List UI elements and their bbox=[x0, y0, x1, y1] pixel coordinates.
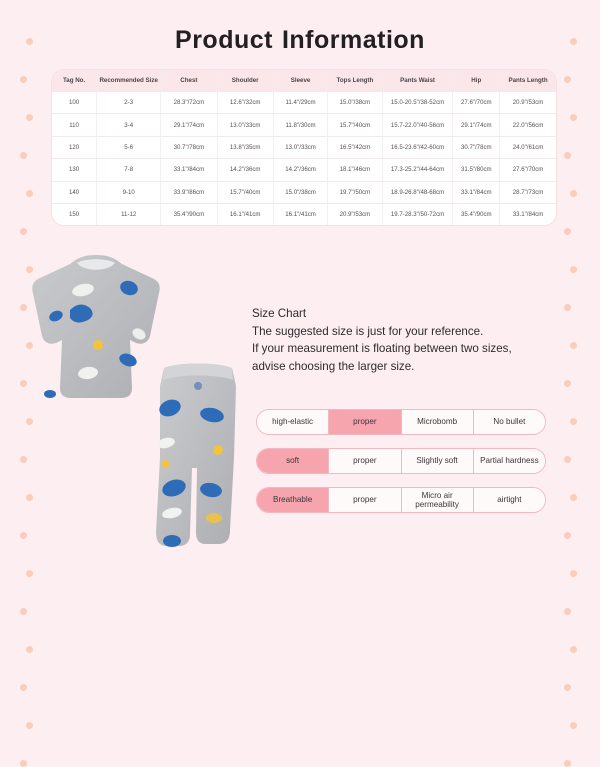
table-cell: 13.8"/35cm bbox=[217, 136, 273, 158]
table-cell: 15.0"/38cm bbox=[273, 181, 327, 203]
decorative-dot bbox=[20, 760, 27, 767]
size-table: Tag No.Recommended SizeChestShoulderSlee… bbox=[52, 70, 556, 225]
feature-option[interactable]: Microbomb bbox=[402, 410, 474, 434]
table-cell: 15.0"/38cm bbox=[328, 92, 382, 114]
feature-row-2: BreathableproperMicro air permeabilityai… bbox=[256, 487, 546, 513]
table-cell: 20.9"/53cm bbox=[500, 92, 556, 114]
table-cell: 30.7"/78cm bbox=[453, 136, 500, 158]
size-table-container: Tag No.Recommended SizeChestShoulderSlee… bbox=[52, 70, 556, 225]
table-cell: 29.1"/74cm bbox=[161, 114, 217, 136]
size-chart-heading: Size Chart bbox=[252, 305, 572, 323]
decorative-dot bbox=[564, 152, 571, 159]
table-cell: 27.6"/70cm bbox=[500, 159, 556, 181]
table-cell: 5-6 bbox=[97, 136, 161, 158]
feature-option[interactable]: No bullet bbox=[474, 410, 545, 434]
table-header-cell-5: Tops Length bbox=[328, 70, 382, 92]
feature-option[interactable]: proper bbox=[329, 488, 401, 512]
table-cell: 20.9"/53cm bbox=[328, 203, 382, 225]
table-cell: 11-12 bbox=[97, 203, 161, 225]
table-cell: 22.0"/56cm bbox=[500, 114, 556, 136]
feature-row-0: high-elasticproperMicrobombNo bullet bbox=[256, 409, 546, 435]
decorative-dots-right bbox=[562, 0, 592, 600]
table-header-cell-2: Chest bbox=[161, 70, 217, 92]
table-row: 1307-833.1"/84cm14.2"/36cm14.2"/36cm18.1… bbox=[52, 159, 556, 181]
feature-row-1: softproperSlightly softPartial hardness bbox=[256, 448, 546, 474]
decorative-dot bbox=[570, 266, 577, 273]
table-cell: 35.4"/90cm bbox=[453, 203, 500, 225]
table-header-cell-8: Pants Length bbox=[500, 70, 556, 92]
table-row: 1409-1033.9"/86cm15.7"/40cm15.0"/38cm19.… bbox=[52, 181, 556, 203]
feature-option[interactable]: Slightly soft bbox=[402, 449, 474, 473]
feature-option[interactable]: proper bbox=[329, 449, 401, 473]
tag-no-cell: 110 bbox=[52, 114, 97, 136]
decorative-dot bbox=[20, 152, 27, 159]
decorative-dot bbox=[564, 608, 571, 615]
table-cell: 11.4"/29cm bbox=[273, 92, 327, 114]
table-cell: 13.0"/33cm bbox=[217, 114, 273, 136]
table-cell: 29.1"/74cm bbox=[453, 114, 500, 136]
decorative-dot bbox=[564, 684, 571, 691]
table-header-cell-6: Pants Waist bbox=[382, 70, 453, 92]
product-image-bottom bbox=[138, 358, 258, 558]
decorative-dot bbox=[564, 76, 571, 83]
feature-option[interactable]: airtight bbox=[474, 488, 545, 512]
decorative-dot bbox=[570, 114, 577, 121]
table-cell: 11.8"/30cm bbox=[273, 114, 327, 136]
table-cell: 27.6"/70cm bbox=[453, 92, 500, 114]
table-cell: 2-3 bbox=[97, 92, 161, 114]
feature-option[interactable]: soft bbox=[257, 449, 329, 473]
table-cell: 7-8 bbox=[97, 159, 161, 181]
table-cell: 19.7-28.3"/50-72cm bbox=[382, 203, 453, 225]
table-row: 1205-630.7"/78cm13.8"/35cm13.0"/33cm16.5… bbox=[52, 136, 556, 158]
table-cell: 33.9"/86cm bbox=[161, 181, 217, 203]
decorative-dot bbox=[564, 760, 571, 767]
table-row: 15011-1235.4"/90cm16.1"/41cm16.1"/41cm20… bbox=[52, 203, 556, 225]
decorative-dot bbox=[564, 228, 571, 235]
feature-option[interactable]: high-elastic bbox=[257, 410, 329, 434]
decorative-dot bbox=[20, 684, 27, 691]
decorative-dot bbox=[570, 494, 577, 501]
table-header-cell-3: Shoulder bbox=[217, 70, 273, 92]
table-header-cell-4: Sleeve bbox=[273, 70, 327, 92]
table-cell: 16.5"/42cm bbox=[328, 136, 382, 158]
table-body: 1002-328.3"/72cm12.6"/32cm11.4"/29cm15.0… bbox=[52, 92, 556, 226]
table-cell: 14.2"/36cm bbox=[273, 159, 327, 181]
feature-option[interactable]: Partial hardness bbox=[474, 449, 545, 473]
table-cell: 3-4 bbox=[97, 114, 161, 136]
tag-no-cell: 100 bbox=[52, 92, 97, 114]
table-cell: 28.3"/72cm bbox=[161, 92, 217, 114]
table-header-cell-1: Recommended Size bbox=[97, 70, 161, 92]
table-cell: 15.7"/40cm bbox=[328, 114, 382, 136]
size-chart-line-3: If your measurement is floating between … bbox=[252, 340, 572, 358]
decorative-dot bbox=[20, 228, 27, 235]
table-cell: 31.5"/80cm bbox=[453, 159, 500, 181]
table-row: 1103-429.1"/74cm13.0"/33cm11.8"/30cm15.7… bbox=[52, 114, 556, 136]
table-cell: 28.7"/73cm bbox=[500, 181, 556, 203]
table-cell: 16.5-23.6"/42-60cm bbox=[382, 136, 453, 158]
table-cell: 15.7-22.0"/40-56cm bbox=[382, 114, 453, 136]
feature-option[interactable]: Micro air permeability bbox=[402, 488, 474, 512]
page-title: ProductInformation bbox=[0, 26, 600, 55]
decorative-dot bbox=[564, 532, 571, 539]
decorative-dot bbox=[26, 114, 33, 121]
table-cell: 17.3-25.2"/44-64cm bbox=[382, 159, 453, 181]
table-header-cell-7: Hip bbox=[453, 70, 500, 92]
tag-no-cell: 120 bbox=[52, 136, 97, 158]
table-cell: 30.7"/78cm bbox=[161, 136, 217, 158]
table-cell: 33.1"/84cm bbox=[453, 181, 500, 203]
table-cell: 24.0"/61cm bbox=[500, 136, 556, 158]
table-cell: 15.7"/40cm bbox=[217, 181, 273, 203]
decorative-dot bbox=[570, 570, 577, 577]
table-cell: 19.7"/50cm bbox=[328, 181, 382, 203]
decorative-dot bbox=[26, 646, 33, 653]
decorative-dot bbox=[20, 608, 27, 615]
table-cell: 35.4"/90cm bbox=[161, 203, 217, 225]
table-cell: 18.1"/46cm bbox=[328, 159, 382, 181]
size-chart-line-2: The suggested size is just for your refe… bbox=[252, 323, 572, 341]
decorative-dot bbox=[26, 190, 33, 197]
table-cell: 13.0"/33cm bbox=[273, 136, 327, 158]
table-cell: 14.2"/36cm bbox=[217, 159, 273, 181]
table-cell: 33.1"/84cm bbox=[500, 203, 556, 225]
size-chart-line-4: advise choosing the larger size. bbox=[252, 358, 572, 376]
table-cell: 15.0-20.5"/38-52cm bbox=[382, 92, 453, 114]
tag-no-cell: 150 bbox=[52, 203, 97, 225]
table-row: 1002-328.3"/72cm12.6"/32cm11.4"/29cm15.0… bbox=[52, 92, 556, 114]
decorative-dot bbox=[26, 570, 33, 577]
decorative-dot bbox=[570, 646, 577, 653]
table-header-cell-0: Tag No. bbox=[52, 70, 97, 92]
table-cell: 16.1"/41cm bbox=[217, 203, 273, 225]
product-image-group bbox=[18, 248, 268, 568]
feature-option[interactable]: proper bbox=[329, 410, 401, 434]
decorative-dot bbox=[26, 722, 33, 729]
feature-rating-group: high-elasticproperMicrobombNo bulletsoft… bbox=[256, 409, 546, 526]
table-header-row: Tag No.Recommended SizeChestShoulderSlee… bbox=[52, 70, 556, 92]
tag-no-cell: 140 bbox=[52, 181, 97, 203]
table-cell: 16.1"/41cm bbox=[273, 203, 327, 225]
table-cell: 12.6"/32cm bbox=[217, 92, 273, 114]
decorative-dot bbox=[570, 190, 577, 197]
table-cell: 33.1"/84cm bbox=[161, 159, 217, 181]
tag-no-cell: 130 bbox=[52, 159, 97, 181]
decorative-dot bbox=[564, 456, 571, 463]
page-title-word-1: Product bbox=[175, 26, 273, 54]
page-title-word-2: Information bbox=[282, 26, 425, 54]
size-chart-note: Size Chart The suggested size is just fo… bbox=[252, 305, 572, 375]
table-cell: 9-10 bbox=[97, 181, 161, 203]
decorative-dot bbox=[20, 76, 27, 83]
decorative-dot bbox=[570, 418, 577, 425]
table-cell: 18.9-26.8"/48-68cm bbox=[382, 181, 453, 203]
decorative-dot bbox=[564, 380, 571, 387]
feature-option[interactable]: Breathable bbox=[257, 488, 329, 512]
decorative-dot bbox=[570, 722, 577, 729]
